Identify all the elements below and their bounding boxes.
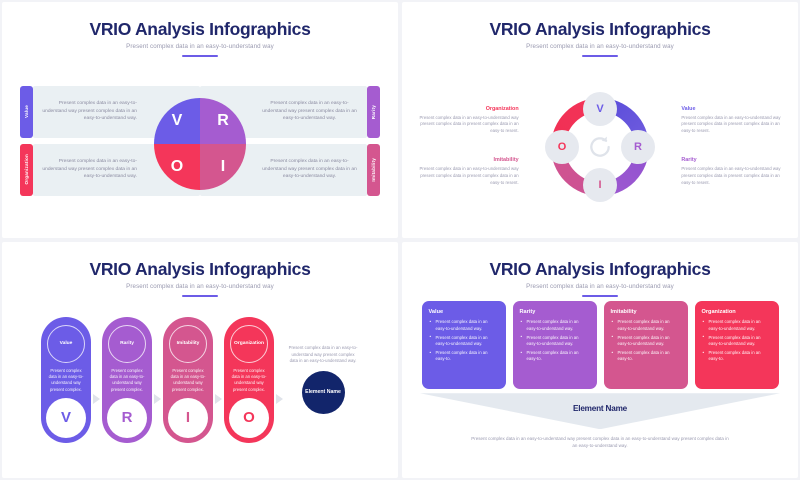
panel3-header: VRIO Analysis Infographics Present compl… [16, 250, 384, 297]
list-item: Present complex data in an easy-to-under… [429, 335, 499, 348]
panel2-label-value: Value [681, 106, 789, 112]
page-subtitle: Present complex data in an easy-to-under… [416, 43, 784, 50]
vtab-organization-label: Organization [24, 154, 29, 184]
step-label-organization: Organization [234, 341, 264, 346]
step-ring-organization: Organization [230, 325, 268, 363]
vrio-ring: V R I O [546, 93, 654, 201]
step-label-rarity: Rarity [120, 341, 134, 346]
panel2-item-organization: Organization Present complex data in an … [411, 106, 519, 135]
card-title-organization: Organization [702, 309, 772, 315]
card-bullets-rarity: Present complex data in an easy-to-under… [520, 319, 590, 363]
card-title-imitability: Imitability [611, 309, 681, 315]
vtab-value-label: Value [24, 105, 29, 118]
ring-node-v[interactable]: V [583, 92, 617, 126]
list-item: Present complex data in an easy-to. [520, 350, 590, 363]
card-rarity[interactable]: Rarity Present complex data in an easy-t… [513, 301, 597, 389]
arrow-right-icon [276, 394, 283, 404]
vrio-quadrant-circle: V R O I [154, 98, 246, 190]
ring-node-v-letter: V [596, 103, 603, 115]
vtab-imitability[interactable]: Imitability [367, 144, 380, 196]
page-title: VRIO Analysis Infographics [416, 20, 784, 39]
card-bullets-value: Present complex data in an easy-to-under… [429, 319, 499, 363]
panel2-text-rarity: Present complex data in an easy-to-under… [681, 166, 789, 186]
ring-node-i-letter: I [598, 179, 601, 191]
step-ring-rarity: Rarity [108, 325, 146, 363]
page-subtitle: Present complex data in an easy-to-under… [16, 283, 384, 290]
panel2-header: VRIO Analysis Infographics Present compl… [416, 10, 784, 57]
card-title-value: Value [429, 309, 499, 315]
refresh-icon [587, 134, 613, 160]
ring-node-i[interactable]: I [583, 168, 617, 202]
ring-node-o-letter: O [558, 141, 567, 153]
list-item: Present complex data in an easy-to-under… [702, 335, 772, 348]
card-organization[interactable]: Organization Present complex data in an … [695, 301, 779, 389]
ring-node-r[interactable]: R [621, 130, 655, 164]
step-pill-value[interactable]: Value Present complex data in an easy-to… [41, 317, 91, 443]
list-item: Present complex data in an easy-to-under… [611, 335, 681, 348]
panel2-body: Organization Present complex data in an … [416, 57, 784, 230]
panel2-label-imitability: Imitability [411, 157, 519, 163]
step-letter-rarity: R [107, 398, 147, 438]
step-letter-organization-glyph: O [243, 409, 255, 426]
panel2-text-organization: Present complex data in an easy-to-under… [411, 115, 519, 135]
page-title: VRIO Analysis Infographics [416, 260, 784, 279]
panel2-item-value: Value Present complex data in an easy-to… [681, 106, 789, 135]
step-label-imitability: Imitability [177, 341, 200, 346]
panel2-text-value: Present complex data in an easy-to-under… [681, 115, 789, 135]
panel2-text-imitability: Present complex data in an easy-to-under… [411, 166, 519, 186]
step-letter-imitability-glyph: I [186, 409, 190, 426]
list-item: Present complex data in an easy-to. [702, 350, 772, 363]
vtab-rarity[interactable]: Rarity [367, 86, 380, 138]
panel2-label-organization: Organization [411, 106, 519, 112]
panel4-footer: Present complex data in an easy-to-under… [416, 433, 784, 450]
panel4-cards: Value Present complex data in an easy-to… [416, 301, 784, 389]
panel-ring-cycle: VRIO Analysis Infographics Present compl… [402, 2, 798, 238]
vtab-rarity-label: Rarity [371, 105, 376, 119]
element-name-label: Element Name [305, 389, 341, 396]
step-letter-imitability: I [168, 398, 208, 438]
ring-node-o[interactable]: O [545, 130, 579, 164]
list-item: Present complex data in an easy-to. [611, 350, 681, 363]
panel3-end-column: Present complex data in an easy-to-under… [287, 345, 359, 414]
quadrant-i-letter: I [221, 158, 225, 176]
slide-grid: VRIO Analysis Infographics Present compl… [0, 0, 800, 480]
list-item: Present complex data in an easy-to-under… [429, 319, 499, 332]
quadrant-r-letter: R [217, 112, 229, 130]
list-item: Present complex data in an easy-to-under… [611, 319, 681, 332]
panel4-body: Value Present complex data in an easy-to… [416, 297, 784, 470]
panel4-header: VRIO Analysis Infographics Present compl… [416, 250, 784, 297]
step-label-value: Value [60, 341, 73, 346]
step-pill-organization[interactable]: Organization Present complex data in an … [224, 317, 274, 443]
panel-pill-steps: VRIO Analysis Infographics Present compl… [2, 242, 398, 478]
vtab-organization[interactable]: Organization [20, 144, 33, 196]
panel3-body: Value Present complex data in an easy-to… [16, 297, 384, 470]
quadrant-o-letter: O [171, 158, 183, 176]
panel2-label-rarity: Rarity [681, 157, 789, 163]
step-pill-imitability[interactable]: Imitability Present complex data in an e… [163, 317, 213, 443]
card-bullets-imitability: Present complex data in an easy-to-under… [611, 319, 681, 363]
arrow-right-icon [154, 394, 161, 404]
vtab-value[interactable]: Value [20, 86, 33, 138]
page-title: VRIO Analysis Infographics [16, 260, 384, 279]
page-subtitle: Present complex data in an easy-to-under… [416, 283, 784, 290]
step-ring-value: Value [47, 325, 85, 363]
quadrant-v-letter: V [172, 112, 183, 130]
card-imitability[interactable]: Imitability Present complex data in an e… [604, 301, 688, 389]
step-letter-value: V [46, 398, 86, 438]
step-letter-organization: O [229, 398, 269, 438]
list-item: Present complex data in an easy-to-under… [520, 335, 590, 348]
funnel-arrow: Element Name [416, 393, 784, 433]
panel1-body: Value Present complex data in an easy-to… [16, 57, 384, 230]
list-item: Present complex data in an easy-to-under… [520, 319, 590, 332]
funnel-label: Element Name [416, 404, 784, 413]
card-title-rarity: Rarity [520, 309, 590, 315]
step-letter-value-glyph: V [61, 409, 71, 426]
step-letter-rarity-glyph: R [122, 409, 133, 426]
card-value[interactable]: Value Present complex data in an easy-to… [422, 301, 506, 389]
panel-quadrant-circle: VRIO Analysis Infographics Present compl… [2, 2, 398, 238]
panel3-end-text: Present complex data in an easy-to-under… [287, 345, 359, 365]
arrow-right-icon [215, 394, 222, 404]
list-item: Present complex data in an easy-to. [429, 350, 499, 363]
panel2-item-imitability: Imitability Present complex data in an e… [411, 157, 519, 186]
arrow-right-icon [93, 394, 100, 404]
list-item: Present complex data in an easy-to-under… [702, 319, 772, 332]
card-bullets-organization: Present complex data in an easy-to-under… [702, 319, 772, 363]
vtab-imitability-label: Imitability [371, 158, 376, 182]
panel-cards-funnel: VRIO Analysis Infographics Present compl… [402, 242, 798, 478]
step-ring-imitability: Imitability [169, 325, 207, 363]
panel1-header: VRIO Analysis Infographics Present compl… [16, 10, 384, 57]
ring-node-r-letter: R [634, 141, 642, 153]
element-name-circle[interactable]: Element Name [302, 371, 345, 414]
page-subtitle: Present complex data in an easy-to-under… [16, 43, 384, 50]
step-pill-rarity[interactable]: Rarity Present complex data in an easy-t… [102, 317, 152, 443]
panel2-item-rarity: Rarity Present complex data in an easy-t… [681, 157, 789, 186]
page-title: VRIO Analysis Infographics [16, 20, 384, 39]
